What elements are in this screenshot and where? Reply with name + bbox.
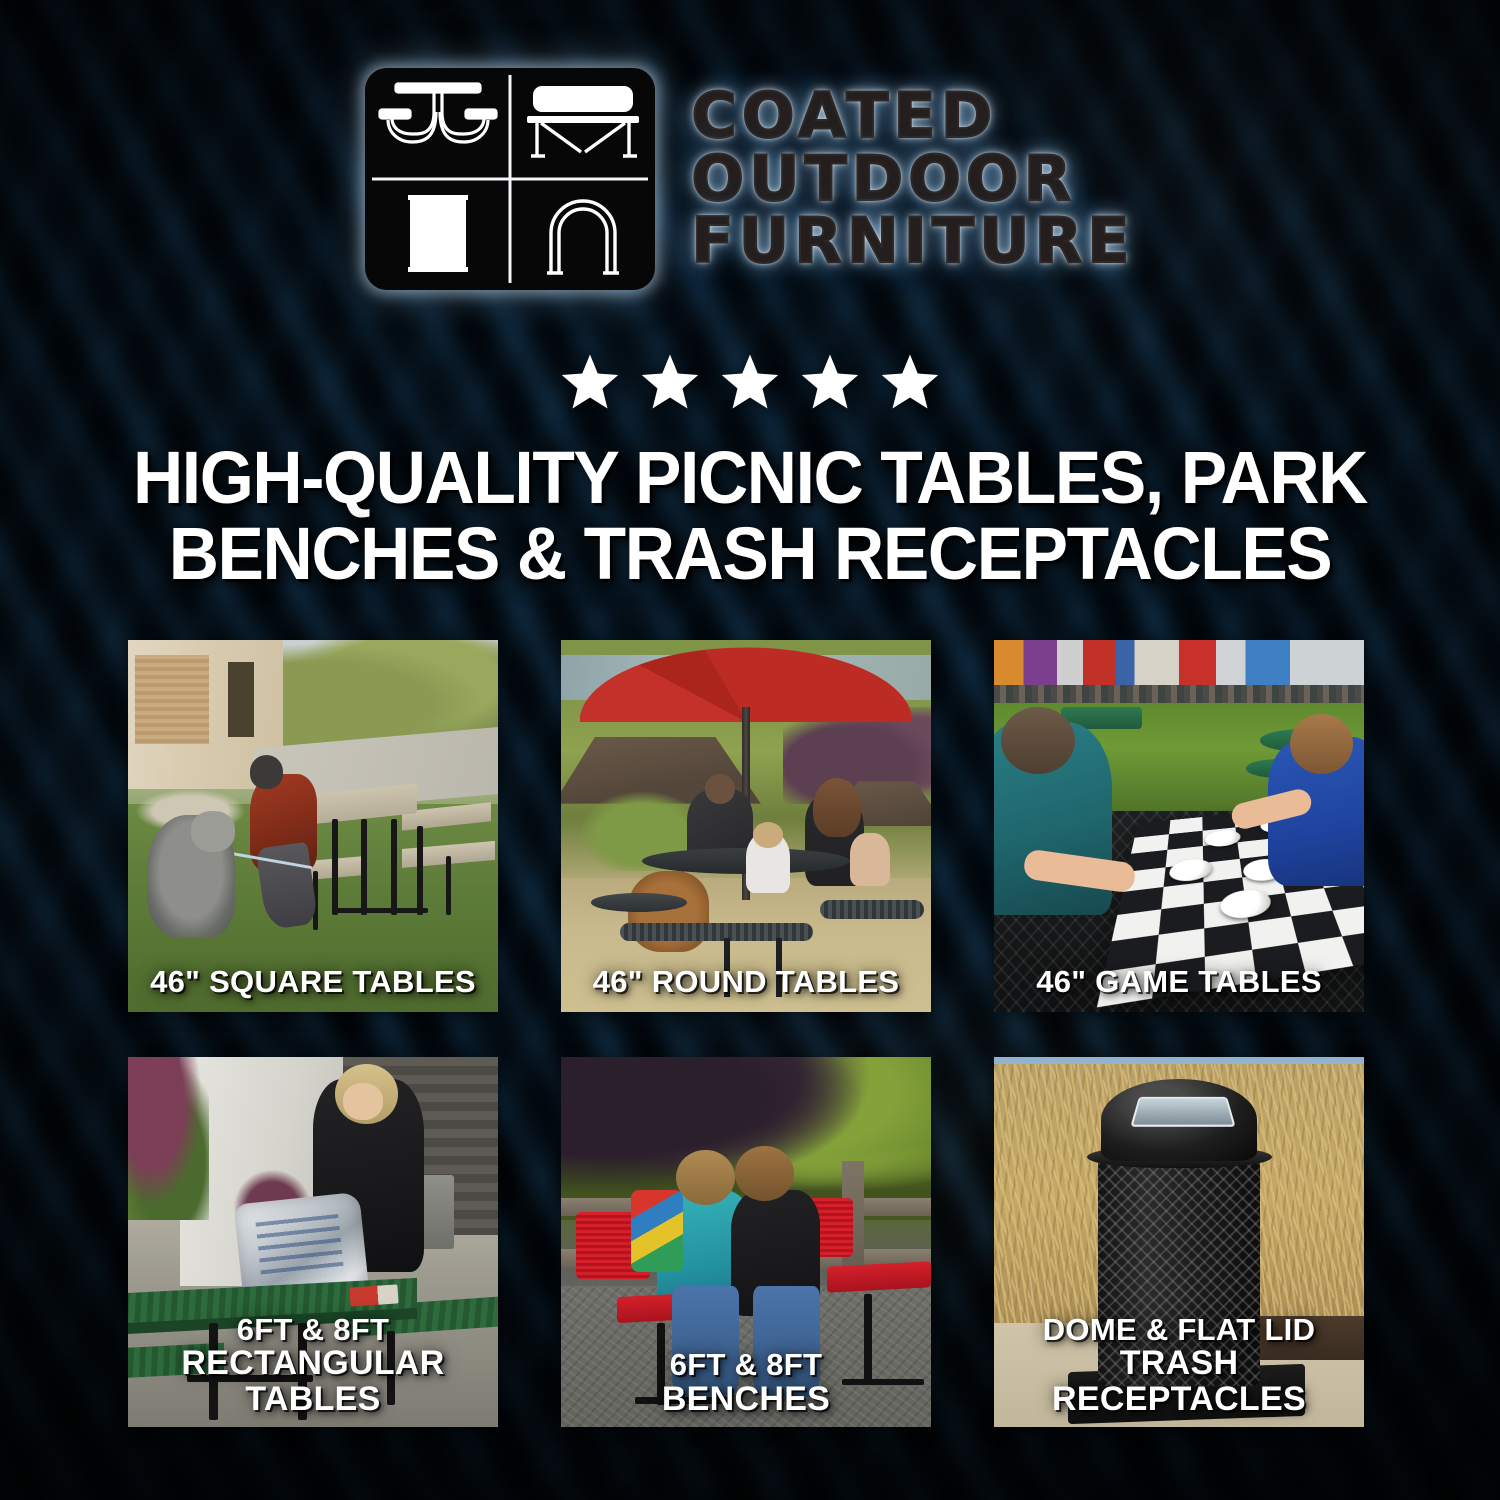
- star-icon: [639, 352, 701, 412]
- product-caption: DOME & FLAT LID TRASH RECEPTACLES: [1000, 1314, 1358, 1417]
- logo-word-furniture: FURNITURE: [691, 211, 1134, 272]
- product-tile-game-tables[interactable]: 46" GAME TABLES: [994, 640, 1364, 1012]
- product-caption-line-2: BENCHES: [567, 1382, 925, 1417]
- product-tile-trash-receptacles[interactable]: DOME & FLAT LID TRASH RECEPTACLES: [994, 1057, 1364, 1427]
- product-caption: 6FT & 8FT RECTANGULAR TABLES: [134, 1314, 492, 1417]
- page-title: HIGH-QUALITY PICNIC TABLES, PARK BENCHES…: [101, 440, 1398, 592]
- product-caption: 46" ROUND TABLES: [567, 966, 925, 998]
- star-icon: [879, 352, 941, 412]
- product-caption: 46" SQUARE TABLES: [134, 966, 492, 998]
- product-photo-game-tables: [994, 640, 1364, 1012]
- product-caption-line-1: 46" SQUARE TABLES: [150, 964, 476, 999]
- headline-line-1: HIGH-QUALITY PICNIC TABLES, PARK: [101, 440, 1398, 516]
- bike-rack-arch-icon: [510, 179, 655, 290]
- picnic-table-icon: [365, 68, 510, 179]
- product-photo-square-tables: [128, 640, 498, 1012]
- product-caption-line-1: 6FT & 8FT: [237, 1312, 390, 1347]
- product-caption-line-2: RECTANGULAR TABLES: [134, 1346, 492, 1417]
- product-photo-round-tables: [561, 640, 931, 1012]
- product-tile-benches[interactable]: 6FT & 8FT BENCHES: [561, 1057, 931, 1427]
- product-caption-line-1: 6FT & 8FT: [670, 1347, 823, 1382]
- brand-logo: COATED OUTDOOR FURNITURE: [0, 68, 1500, 290]
- product-grid: 46" SQUARE TABLES: [128, 640, 1372, 1427]
- star-icon: [559, 352, 621, 412]
- star-rating: [0, 352, 1500, 412]
- product-caption-line-1: 46" GAME TABLES: [1036, 964, 1322, 999]
- product-caption-line-1: DOME & FLAT LID: [1043, 1312, 1316, 1347]
- star-icon: [719, 352, 781, 412]
- trash-receptacle-icon: [365, 179, 510, 290]
- product-caption-line-2: TRASH RECEPTACLES: [1000, 1346, 1358, 1417]
- product-caption: 46" GAME TABLES: [1000, 966, 1358, 998]
- product-caption: 6FT & 8FT BENCHES: [567, 1349, 925, 1417]
- product-caption-line-1: 46" ROUND TABLES: [593, 964, 900, 999]
- logo-word-outdoor: OUTDOOR: [691, 149, 1134, 210]
- star-icon: [799, 352, 861, 412]
- bench-icon: [510, 68, 655, 179]
- product-tile-rectangular-tables[interactable]: 6FT & 8FT RECTANGULAR TABLES: [128, 1057, 498, 1427]
- logo-icon-grid: [365, 68, 655, 290]
- headline-line-2: BENCHES & TRASH RECEPTACLES: [101, 516, 1398, 592]
- product-tile-round-tables[interactable]: 46" ROUND TABLES: [561, 640, 931, 1012]
- product-tile-square-tables[interactable]: 46" SQUARE TABLES: [128, 640, 498, 1012]
- logo-word-coated: COATED: [691, 86, 1134, 147]
- logo-wordmark: COATED OUTDOOR FURNITURE: [691, 86, 1134, 272]
